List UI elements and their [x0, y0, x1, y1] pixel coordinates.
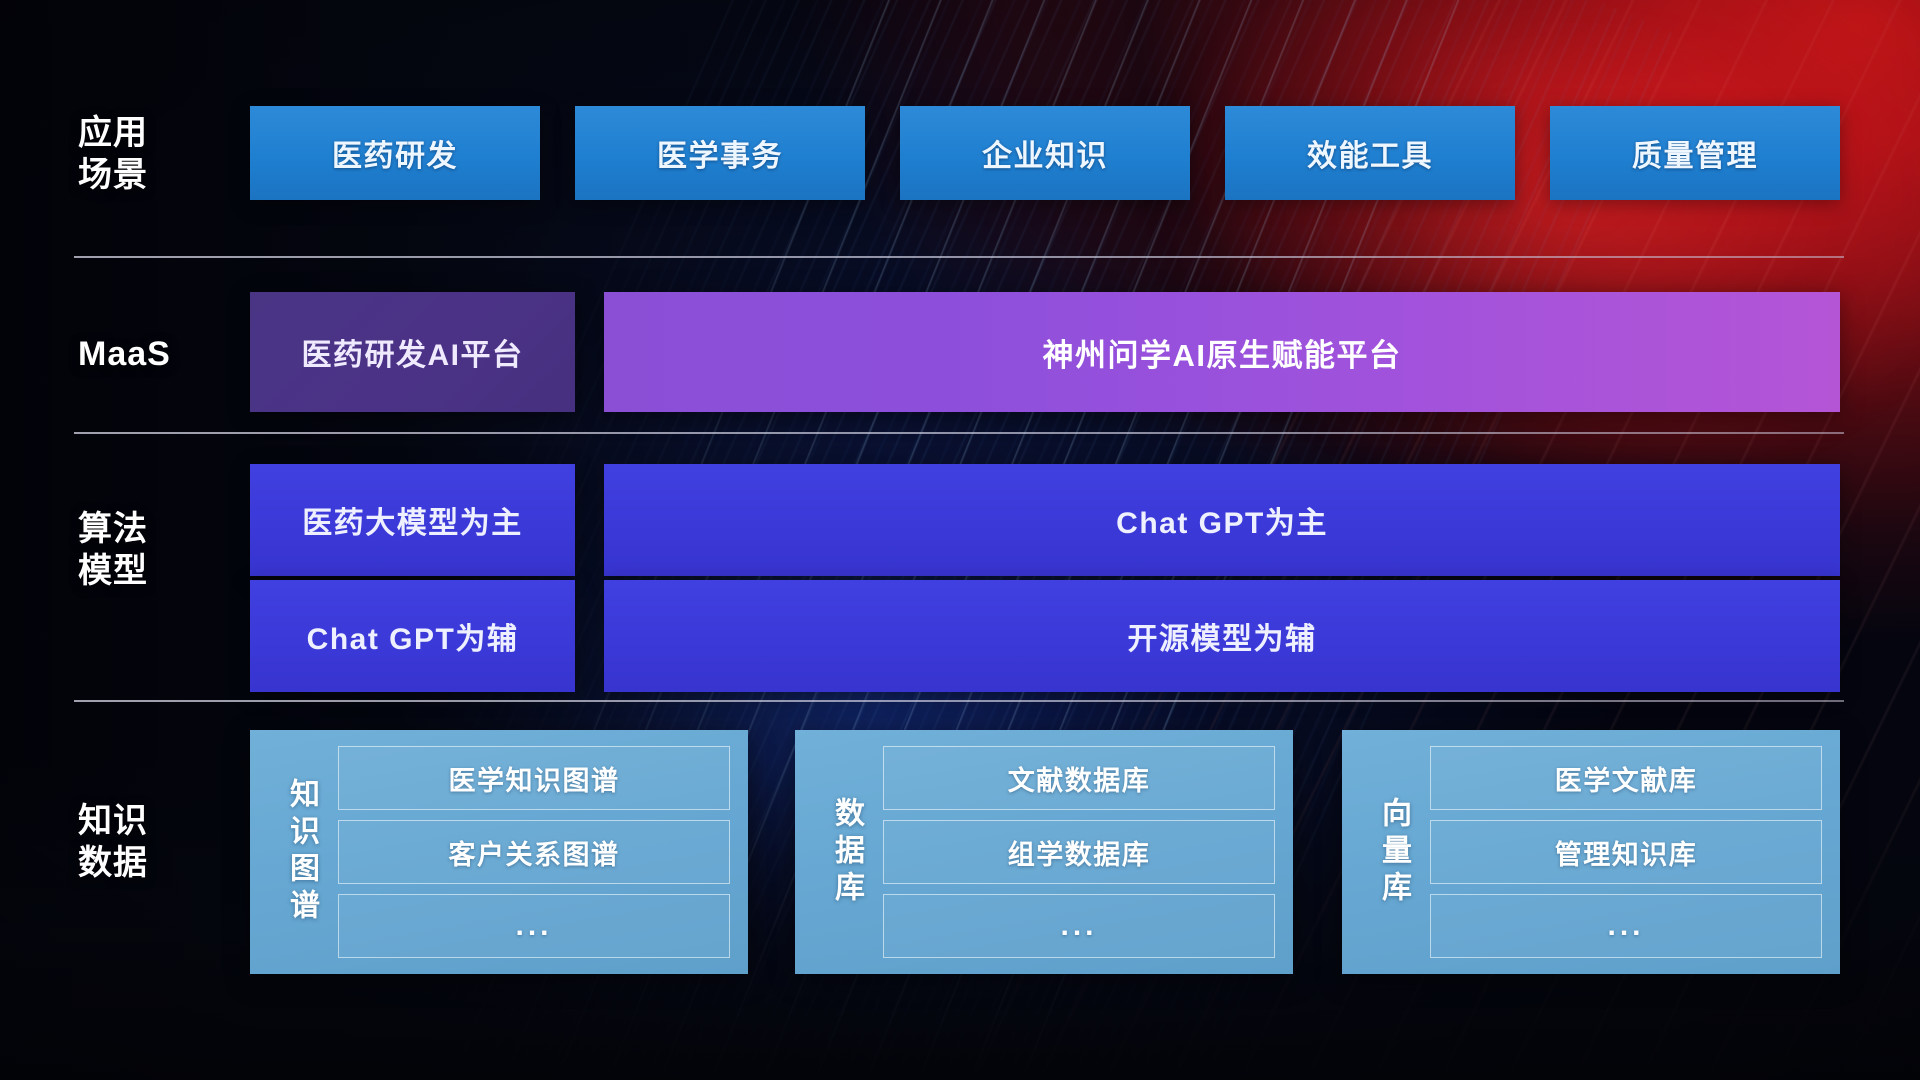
- knowledge-item[interactable]: 组学数据库: [883, 820, 1275, 884]
- algorithm-cell-chatgpt-primary[interactable]: Chat GPT为主: [604, 464, 1840, 576]
- app-card-medical-affairs[interactable]: 医学事务: [575, 106, 865, 200]
- algorithm-cell-label: 开源模型为辅: [1128, 614, 1317, 658]
- algorithm-cell-label: 医药大模型为主: [302, 498, 523, 542]
- row-label-maas: MaaS: [78, 333, 228, 375]
- knowledge-item[interactable]: 文献数据库: [883, 746, 1275, 810]
- app-card-enterprise-knowledge[interactable]: 企业知识: [900, 106, 1190, 200]
- maas-platform-label: 医药研发AI平台: [302, 330, 524, 374]
- maas-platform-label: 神州问学AI原生赋能平台: [1043, 330, 1402, 375]
- divider-maas-algorithm: [74, 432, 1844, 434]
- knowledge-item-more[interactable]: ...: [1430, 894, 1822, 958]
- algorithm-cell-chatgpt-secondary[interactable]: Chat GPT为辅: [250, 580, 575, 692]
- knowledge-group-items: 医学知识图谱 客户关系图谱 ...: [338, 746, 730, 958]
- app-card-label: 医学事务: [657, 131, 783, 175]
- app-card-label: 质量管理: [1632, 131, 1758, 175]
- knowledge-group-database[interactable]: 数据库 文献数据库 组学数据库 ...: [795, 730, 1293, 974]
- knowledge-item-more[interactable]: ...: [338, 894, 730, 958]
- app-card-label: 医药研发: [332, 131, 458, 175]
- knowledge-group-items: 文献数据库 组学数据库 ...: [883, 746, 1275, 958]
- knowledge-item[interactable]: 医学文献库: [1430, 746, 1822, 810]
- app-card-label: 企业知识: [982, 131, 1108, 175]
- knowledge-group-items: 医学文献库 管理知识库 ...: [1430, 746, 1822, 958]
- app-card-efficiency-tools[interactable]: 效能工具: [1225, 106, 1515, 200]
- divider-algorithm-knowledge: [74, 700, 1844, 702]
- architecture-diagram: 应用 场景 医药研发 医学事务 企业知识 效能工具 质量管理 MaaS 医药研发…: [0, 0, 1920, 1080]
- row-label-algorithm: 算法 模型: [78, 508, 228, 592]
- maas-platform-pharma[interactable]: 医药研发AI平台: [250, 292, 575, 412]
- knowledge-group-vector[interactable]: 向量库 医学文献库 管理知识库 ...: [1342, 730, 1840, 974]
- row-label-knowledge: 知识 数据: [78, 800, 228, 884]
- knowledge-group-title: 数据库: [809, 746, 883, 958]
- knowledge-item[interactable]: 医学知识图谱: [338, 746, 730, 810]
- algorithm-cell-pharma-primary[interactable]: 医药大模型为主: [250, 464, 575, 576]
- knowledge-item[interactable]: 管理知识库: [1430, 820, 1822, 884]
- app-card-label: 效能工具: [1307, 131, 1433, 175]
- app-card-pharma-rd[interactable]: 医药研发: [250, 106, 540, 200]
- app-card-quality-management[interactable]: 质量管理: [1550, 106, 1840, 200]
- row-label-application: 应用 场景: [78, 112, 228, 196]
- knowledge-item[interactable]: 客户关系图谱: [338, 820, 730, 884]
- knowledge-group-title: 向量库: [1356, 746, 1430, 958]
- algorithm-cell-opensource-secondary[interactable]: 开源模型为辅: [604, 580, 1840, 692]
- knowledge-group-graph[interactable]: 知识图谱 医学知识图谱 客户关系图谱 ...: [250, 730, 748, 974]
- algorithm-cell-label: Chat GPT为辅: [307, 614, 519, 658]
- knowledge-item-more[interactable]: ...: [883, 894, 1275, 958]
- algorithm-cell-label: Chat GPT为主: [1116, 498, 1328, 542]
- knowledge-group-title: 知识图谱: [264, 746, 338, 958]
- divider-application-maas: [74, 256, 1844, 258]
- maas-platform-shenzhou[interactable]: 神州问学AI原生赋能平台: [604, 292, 1840, 412]
